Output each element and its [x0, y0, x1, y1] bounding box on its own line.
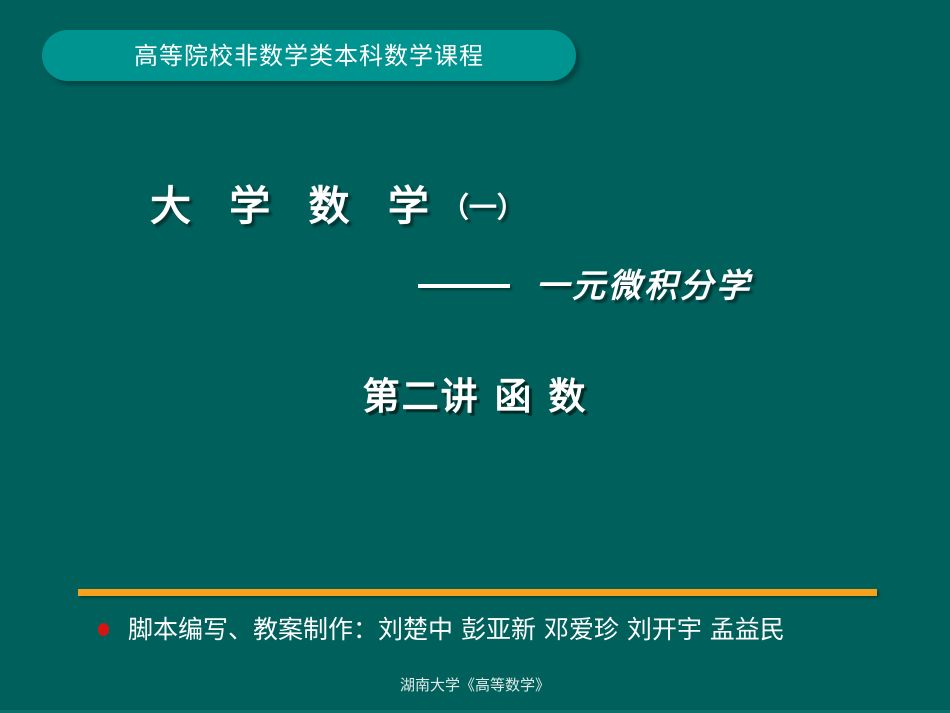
header-banner-label: 高等院校非数学类本科数学课程	[42, 44, 576, 68]
subtitle-dash-icon	[418, 284, 510, 288]
credit-row: 脚本编写、教案制作：刘楚中 彭亚新 邓爱珍 刘开宇 孟益民	[98, 617, 785, 642]
header-banner: 高等院校非数学类本科数学课程	[42, 30, 576, 81]
chapter-title: 第二讲 函 数	[0, 378, 950, 415]
presentation-slide: 高等院校非数学类本科数学课程 大 学 数 学（一） 一元微积分学 第二讲 函 数…	[0, 0, 950, 713]
main-title-characters: 大 学 数 学	[150, 182, 441, 230]
subtitle-row: 一元微积分学	[418, 269, 752, 302]
main-title: 大 学 数 学（一）	[150, 186, 525, 227]
main-title-suffix: （一）	[441, 191, 525, 224]
red-dot-bullet-icon	[98, 623, 109, 636]
footer-divider-rule	[78, 589, 877, 596]
source-note: 湖南大学《高等数学》	[0, 678, 950, 693]
subtitle-text: 一元微积分学	[536, 269, 752, 302]
credit-text: 脚本编写、教案制作：刘楚中 彭亚新 邓爱珍 刘开宇 孟益民	[128, 617, 785, 642]
